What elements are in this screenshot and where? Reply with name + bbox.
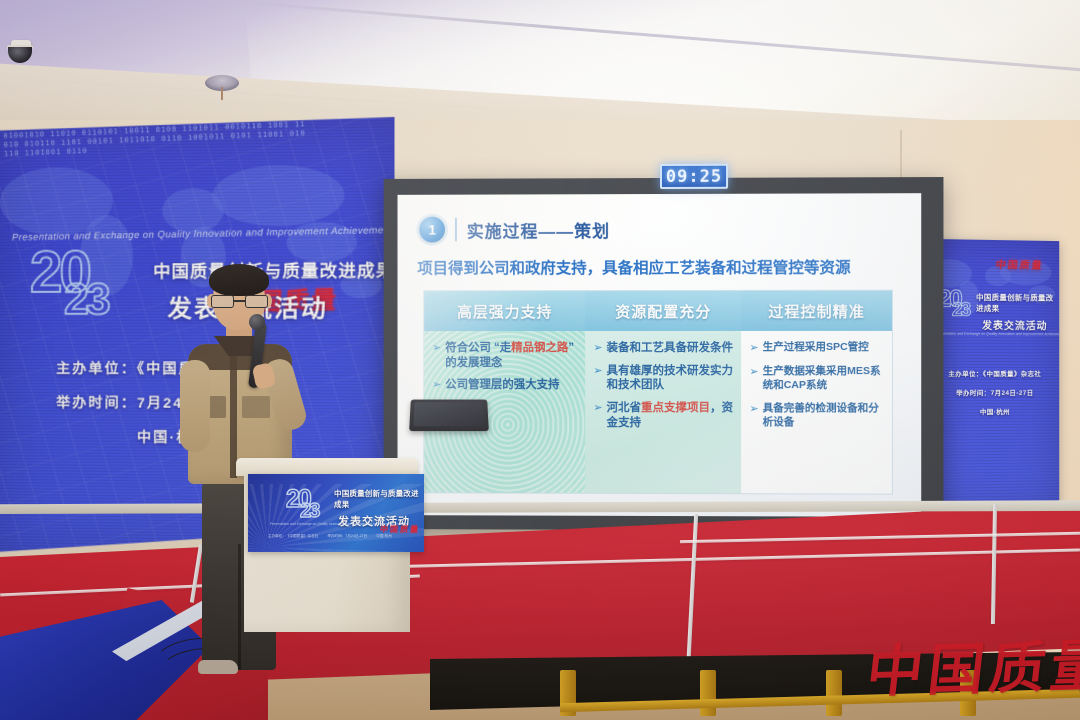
bullet-arrow-icon: ➢: [749, 341, 758, 355]
podium-body: 20 23 中国质量创新与质量改进成果 发表交流活动 Presentation …: [244, 474, 410, 632]
matrix-bullet-text: 具备完善的检测设备和分析设备: [763, 402, 884, 429]
podium-sign-year: 20 23: [286, 490, 318, 519]
podium-sign-organizer: 主办单位：《中国质量》杂志社: [268, 534, 318, 539]
matrix-bullet-text: 河北省重点支撑项目，资金支持: [607, 401, 734, 431]
countdown-timer: 09:25: [660, 164, 728, 189]
banner-datetime-right: 举办时间：7月24日-27日: [938, 387, 1052, 397]
podium-branding-sign: 20 23 中国质量创新与质量改进成果 发表交流活动 Presentation …: [248, 474, 424, 552]
matrix-column: 高层强力支持➢符合公司 “走精品钢之路” 的发展理念➢公司管理层的强大支持: [424, 291, 585, 493]
matrix-bullet-text: 生产数据采集采用MES系统和CAP系统: [763, 365, 884, 392]
slide-glare: [398, 193, 922, 517]
bullet-arrow-icon: ➢: [593, 364, 602, 393]
banner-city-right: 中国·杭州: [938, 406, 1052, 416]
glasses-icon: [211, 295, 268, 308]
led-wall-right: 中国质量 20 23 中国质量创新与质量改进成果 发表交流活动 Presenta…: [928, 239, 1060, 513]
matrix-bullet: ➢河北省重点支撑项目，资金支持: [593, 401, 733, 431]
microphone-head-icon: [249, 314, 265, 330]
watermark: 中国质量: [863, 621, 1080, 708]
podium-sign-date: 举办时间：7月24日-27日: [327, 534, 367, 539]
matrix-column: 资源配置充分➢装备和工艺具备研发条件➢具有雄厚的技术研发实力和技术团队➢河北省重…: [585, 291, 741, 493]
matrix-column-header: 资源配置充分: [585, 291, 741, 331]
matrix-bullet-text: 具有雄厚的技术研发实力和技术团队: [607, 364, 734, 394]
matrix-bullet: ➢具备完善的检测设备和分析设备: [749, 402, 884, 429]
matrix-column-header: 高层强力支持: [424, 291, 585, 331]
banner-info-block-right: 主办单位：《中国质量》杂志社 举办时间：7月24日-27日 中国·杭州: [938, 368, 1052, 425]
laptop-screen: [413, 402, 484, 426]
matrix-column-header: 过程控制精准: [741, 291, 892, 331]
banner-chinese-title-right: 中国质量创新与质量改进成果 发表交流活动: [976, 292, 1057, 333]
bullet-highlight: 精品钢之路: [511, 342, 568, 354]
matrix-column-body: ➢装备和工艺具备研发条件➢具有雄厚的技术研发实力和技术团队➢河北省重点支撑项目，…: [585, 331, 741, 493]
support-matrix-table: 高层强力支持➢符合公司 “走精品钢之路” 的发展理念➢公司管理层的强大支持资源配…: [423, 290, 893, 495]
slide-heading: 实施过程——策划: [467, 217, 610, 242]
projection-screen: 09:25 1 实施过程——策划 项目得到公司和政府支持，具备相应工艺装备和过程…: [384, 177, 944, 531]
matrix-bullet: ➢符合公司 “走精品钢之路” 的发展理念: [432, 341, 577, 370]
presenter-shoe: [198, 660, 238, 674]
laptop: [409, 400, 489, 432]
heading-divider: [455, 218, 457, 242]
matrix-bullet: ➢公司管理层的强大支持: [432, 378, 577, 393]
banner-english-subtitle-right: Presentation and Exchange on Quality Inn…: [936, 332, 1055, 337]
bullet-arrow-icon: ➢: [593, 341, 602, 356]
binary-texture: 01001010 11010 0110101 10011 0100 110101…: [3, 120, 310, 188]
matrix-bullet: ➢装备和工艺具备研发条件: [593, 341, 733, 356]
bullet-arrow-icon: ➢: [749, 365, 758, 392]
podium: 20 23 中国质量创新与质量改进成果 发表交流活动 Presentation …: [236, 382, 418, 632]
presentation-slide: 1 实施过程——策划 项目得到公司和政府支持，具备相应工艺装备和过程管控等资源 …: [398, 193, 922, 517]
security-camera-icon: [7, 40, 33, 70]
slide-subheading: 项目得到公司和政府支持，具备相应工艺装备和过程管控等资源: [417, 256, 909, 279]
matrix-bullet-text: 公司管理层的强大支持: [445, 378, 559, 393]
matrix-column: 过程控制精准➢生产过程采用SPC管控➢生产数据采集采用MES系统和CAP系统➢具…: [741, 291, 892, 494]
matrix-bullet: ➢生产过程采用SPC管控: [749, 341, 884, 355]
presenter-hair: [209, 264, 269, 296]
slide-heading-row: 1 实施过程——策划: [419, 216, 610, 242]
matrix-bullet: ➢生产数据采集采用MES系统和CAP系统: [749, 365, 884, 392]
bullet-highlight: 重点支撑项目: [641, 402, 710, 414]
matrix-bullet-text: 符合公司 “走精品钢之路” 的发展理念: [445, 341, 577, 370]
matrix-bullet-text: 装备和工艺具备研发条件: [607, 341, 733, 356]
banner-organizer-right: 主办单位：《中国质量》杂志社: [938, 368, 1052, 378]
section-number-badge: 1: [419, 217, 445, 243]
banner-year: 20 23: [30, 249, 107, 317]
conference-photo-scene: 01001010 11010 0110101 10011 0100 110101…: [0, 0, 1080, 720]
smoke-detector-icon: [205, 75, 239, 101]
bullet-arrow-icon: ➢: [593, 401, 602, 430]
brandmark-right: 中国质量: [995, 256, 1044, 272]
bullet-arrow-icon: ➢: [432, 341, 441, 370]
stage-support-leg-2: [700, 670, 716, 716]
presenter-arm-left: [180, 360, 210, 452]
matrix-bullet-text: 生产过程采用SPC管控: [763, 341, 869, 355]
matrix-bullet: ➢具有雄厚的技术研发实力和技术团队: [593, 364, 733, 394]
bullet-arrow-icon: ➢: [432, 378, 441, 393]
bullet-arrow-icon: ➢: [749, 402, 758, 429]
stage-support-leg-3: [826, 670, 842, 716]
matrix-column-body: ➢生产过程采用SPC管控➢生产数据采集采用MES系统和CAP系统➢具备完善的检测…: [741, 331, 892, 494]
brandmark-podium: 中国质量: [379, 524, 420, 535]
